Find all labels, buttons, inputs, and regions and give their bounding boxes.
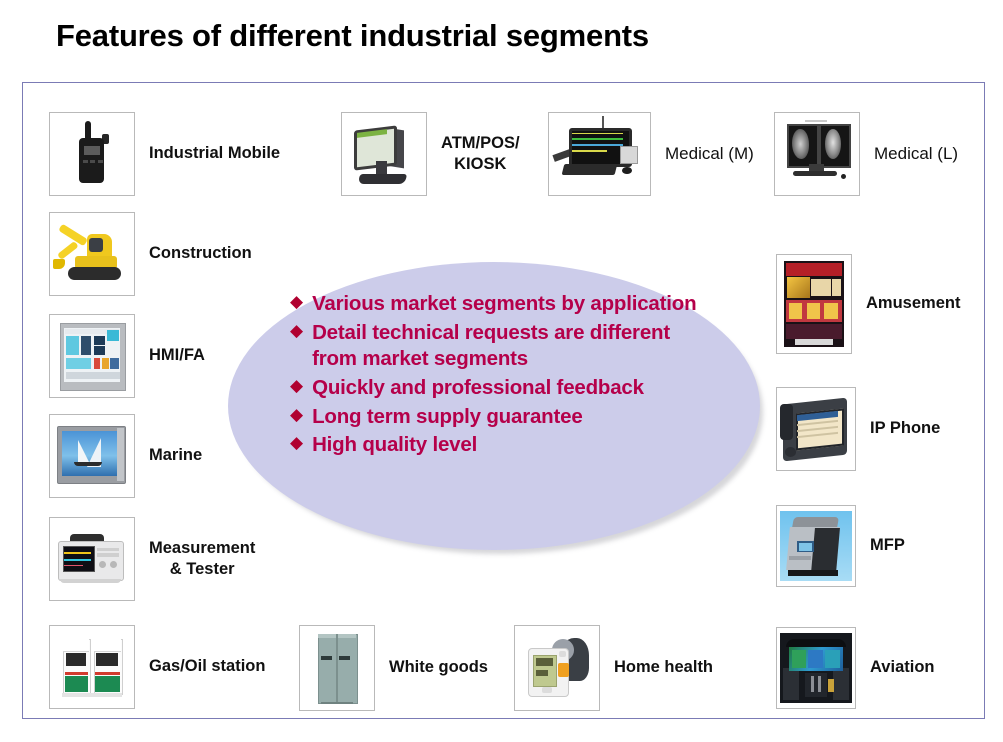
segment-label: Measurement & Tester <box>149 538 255 580</box>
segment-mfp[interactable]: MFP <box>776 505 905 587</box>
pos-terminal-icon <box>341 112 427 196</box>
segment-label: Marine <box>149 445 202 466</box>
segment-label: White goods <box>389 657 488 678</box>
segment-amusement[interactable]: Amusement <box>776 254 960 354</box>
segment-marine[interactable]: Marine <box>49 414 202 498</box>
oscilloscope-icon <box>49 517 135 601</box>
segment-white-goods[interactable]: White goods <box>299 625 488 711</box>
page-title: Features of different industrial segment… <box>56 18 649 54</box>
bullet-item: ◆ Detail technical requests are differen… <box>290 320 710 373</box>
segment-construction[interactable]: Construction <box>49 212 252 296</box>
blood-pressure-monitor-icon <box>514 625 600 711</box>
diamond-bullet-icon: ◆ <box>290 432 303 454</box>
diamond-bullet-icon: ◆ <box>290 320 303 342</box>
segment-label: Medical (M) <box>665 143 754 165</box>
bullet-text: High quality level <box>312 432 477 459</box>
segment-label: HMI/FA <box>149 345 205 366</box>
segment-label: Gas/Oil station <box>149 656 265 677</box>
segment-label: Industrial Mobile <box>149 143 280 164</box>
segment-gas-oil-station[interactable]: Gas/Oil station <box>49 625 265 709</box>
bullet-text: Long term supply guarantee <box>312 404 582 431</box>
segment-label: Home health <box>614 657 713 678</box>
bullet-item: ◆ Long term supply guarantee <box>290 404 710 431</box>
segment-ip-phone[interactable]: IP Phone <box>776 387 940 471</box>
bullet-item: ◆ Quickly and professional feedback <box>290 375 710 402</box>
segment-label: Aviation <box>870 657 934 678</box>
segment-home-health[interactable]: Home health <box>514 625 713 711</box>
bullet-item: ◆ High quality level <box>290 432 710 459</box>
diamond-bullet-icon: ◆ <box>290 375 303 397</box>
refrigerator-icon <box>299 625 375 711</box>
bullet-text: Detail technical requests are different … <box>312 320 710 373</box>
hmi-panel-icon <box>49 314 135 398</box>
segment-label: ATM/POS/ KIOSK <box>441 133 520 175</box>
patient-monitor-icon <box>548 112 651 196</box>
ip-phone-icon <box>776 387 856 471</box>
segment-label: IP Phone <box>870 418 940 439</box>
segment-atm-pos-kiosk[interactable]: ATM/POS/ KIOSK <box>341 112 520 196</box>
diamond-bullet-icon: ◆ <box>290 404 303 426</box>
cockpit-icon <box>776 627 856 709</box>
walkie-talkie-icon <box>49 112 135 196</box>
marine-display-icon <box>49 414 135 498</box>
segment-label: Amusement <box>866 293 960 314</box>
segment-label: Medical (L) <box>874 143 958 165</box>
bullet-text: Various market segments by application <box>312 291 696 318</box>
bullet-item: ◆ Various market segments by application <box>290 291 710 318</box>
segment-medical-m[interactable]: Medical (M) <box>548 112 754 196</box>
segment-aviation[interactable]: Aviation <box>776 627 934 709</box>
multifunction-printer-icon <box>776 505 856 587</box>
diamond-bullet-icon: ◆ <box>290 291 303 313</box>
bullet-text: Quickly and professional feedback <box>312 375 644 402</box>
segment-hmi-fa[interactable]: HMI/FA <box>49 314 205 398</box>
segment-measurement-tester[interactable]: Measurement & Tester <box>49 517 255 601</box>
segment-medical-l[interactable]: Medical (L) <box>774 112 958 196</box>
excavator-icon <box>49 212 135 296</box>
segment-industrial-mobile[interactable]: Industrial Mobile <box>49 112 280 196</box>
segment-label: Construction <box>149 243 252 264</box>
medical-display-icon <box>774 112 860 196</box>
oval-bullet-list: ◆ Various market segments by application… <box>290 291 710 461</box>
segment-label: MFP <box>870 535 905 556</box>
slot-machine-icon <box>776 254 852 354</box>
fuel-pump-icon <box>49 625 135 709</box>
